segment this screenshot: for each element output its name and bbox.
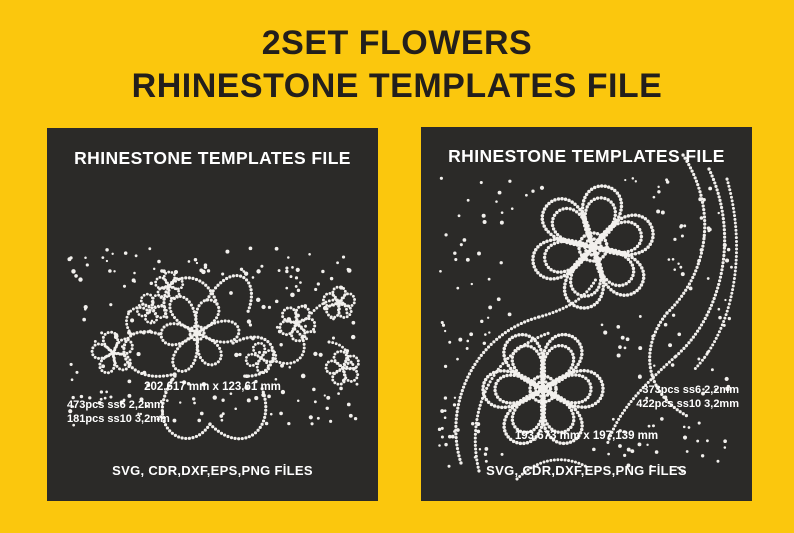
stone-count-line: 181pcs ss10 3,2mm — [67, 412, 170, 426]
file-formats-label-right: SVG, CDR,DXF,EPS,PNG FİLES — [421, 463, 752, 478]
stone-count-line: 422pcs ss10 3,2mm — [636, 397, 739, 411]
rhinestone-artwork-right — [421, 127, 752, 501]
poster-canvas: 2SET FLOWERS RHINESTONE TEMPLATES FILE R… — [0, 0, 794, 533]
dimensions-label-right: 193,673 mm x 197,139 mm — [421, 430, 752, 442]
stone-count-line: 373pcs ss6 2,2mm — [636, 383, 739, 397]
title-line-1: 2SET FLOWERS — [0, 22, 794, 64]
panel-heading-left: RHINESTONE TEMPLATES FILE — [47, 148, 378, 169]
stone-counts-right: 373pcs ss6 2,2mm 422pcs ss10 3,2mm — [636, 383, 739, 411]
poster-title: 2SET FLOWERS RHINESTONE TEMPLATES FILE — [0, 22, 794, 108]
title-line-2: RHINESTONE TEMPLATES FILE — [0, 64, 794, 108]
panel-heading-right: RHINESTONE TEMPLATES FILE — [421, 146, 752, 167]
stone-count-line: 473pcs ss6 2,2mm — [67, 398, 170, 412]
template-card-left: RHINESTONE TEMPLATES FILE 202,617 mm x 1… — [47, 128, 378, 501]
rhinestone-artwork-left — [47, 128, 378, 501]
stone-counts-left: 473pcs ss6 2,2mm 181pcs ss10 3,2mm — [67, 398, 170, 426]
dimensions-label-left: 202,617 mm x 123,61 mm — [47, 381, 378, 393]
file-formats-label-left: SVG, CDR,DXF,EPS,PNG FİLES — [47, 463, 378, 478]
template-card-right: RHINESTONE TEMPLATES FILE 373pcs ss6 2,2… — [421, 127, 752, 501]
